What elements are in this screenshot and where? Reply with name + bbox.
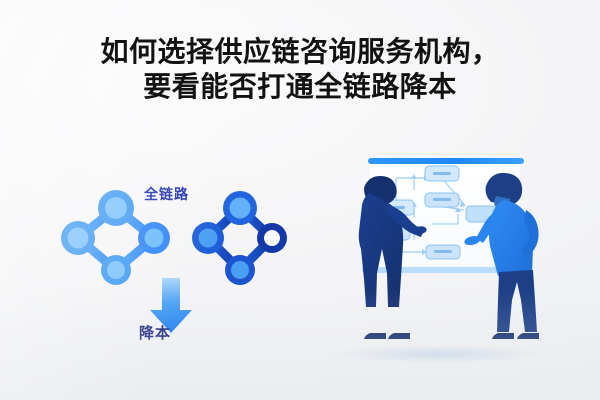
chain-label: 全链路 xyxy=(144,184,189,204)
network-node-hollow[interactable] xyxy=(257,223,287,253)
network-node[interactable] xyxy=(138,222,170,254)
person-right-shoe xyxy=(492,333,514,339)
supply-chain-network-diagram: 全链路 降本 xyxy=(40,170,310,370)
whiteboard-top-rail xyxy=(368,158,524,164)
slide-canvas: 如何选择供应链咨询服务机构， 要看能否打通全链路降本 xyxy=(0,0,600,400)
title-line-2: 要看能否打通全链路降本 xyxy=(0,69,600,104)
person-right-pants xyxy=(497,270,537,332)
network-node[interactable] xyxy=(223,191,257,225)
ground-shadow xyxy=(332,345,544,363)
page-title: 如何选择供应链咨询服务机构， 要看能否打通全链路降本 xyxy=(0,34,600,104)
network-node[interactable] xyxy=(61,221,95,255)
cost-reduction-label: 降本 xyxy=(40,322,270,343)
network-node[interactable] xyxy=(225,255,255,285)
person-right-shoe xyxy=(517,333,539,339)
illustration-svg xyxy=(318,148,586,373)
whiteboard-discussion-illustration xyxy=(318,148,586,373)
network-node[interactable] xyxy=(101,255,131,285)
network-node[interactable] xyxy=(98,190,134,226)
person-left-shoe xyxy=(364,333,386,339)
title-line-1: 如何选择供应链咨询服务机构， xyxy=(0,34,600,69)
person-left-shoe xyxy=(388,333,410,339)
network-node[interactable] xyxy=(192,222,224,254)
